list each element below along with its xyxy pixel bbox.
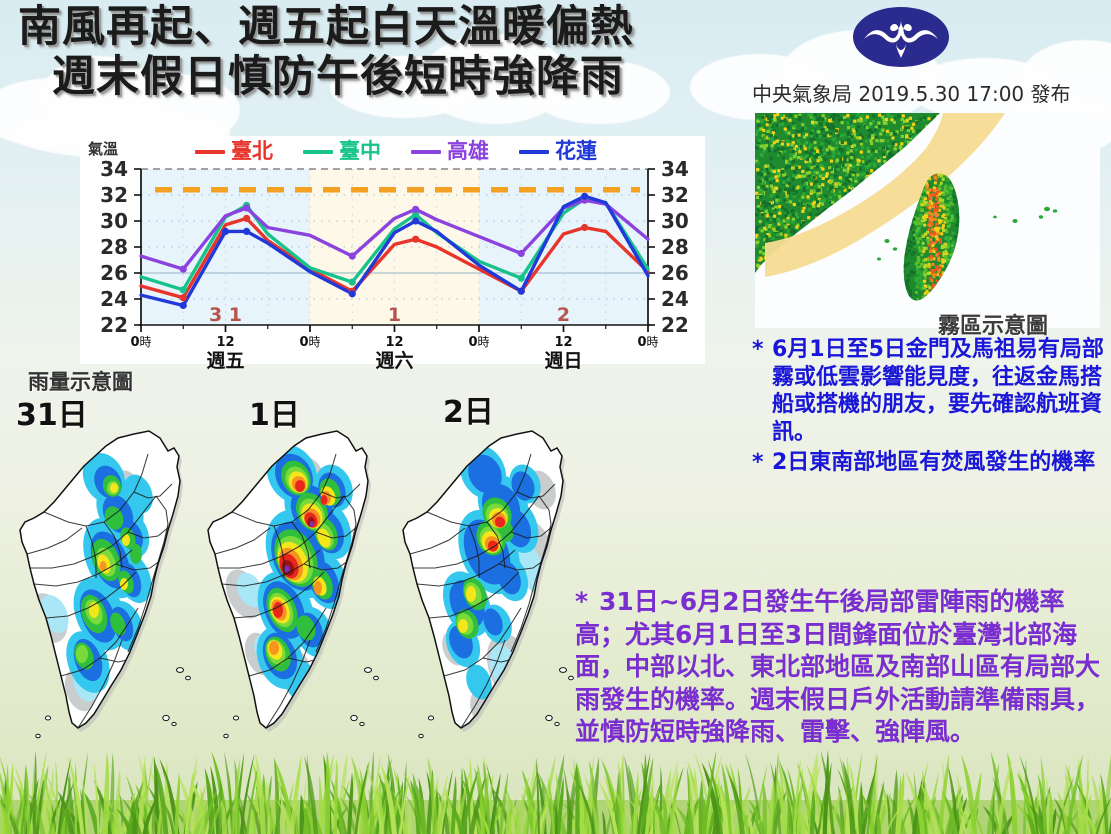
page-title: 南風再起、週五起白天溫暖偏熱 週末假日慎防午後短時強降雨 bbox=[18, 2, 718, 103]
rain-map-may31 bbox=[8, 418, 213, 763]
blue-note-1: * 2日東南部地區有焚風發生的機率 bbox=[752, 449, 1104, 477]
legend-swatch-kaohsiung bbox=[411, 150, 441, 154]
legend-item-taichung: 臺中 bbox=[303, 135, 381, 165]
temperature-chart-panel bbox=[80, 136, 705, 364]
bullet-star-purple: * bbox=[575, 586, 599, 619]
legend-item-kaohsiung: 高雄 bbox=[411, 135, 489, 165]
rain-map-jun2 bbox=[391, 418, 596, 763]
legend-swatch-hualien bbox=[519, 150, 549, 154]
rain-advisory-note: * 31日~6月2日發生午後局部雷陣雨的機率高；尤其6月1日至3日間鋒面位於臺灣… bbox=[575, 586, 1110, 749]
legend-swatch-taipei bbox=[195, 150, 225, 154]
legend-item-taipei: 臺北 bbox=[195, 135, 273, 165]
grass-decoration bbox=[0, 742, 1111, 834]
legend-label-taichung: 臺中 bbox=[339, 139, 381, 163]
blue-note-text-0: 6月1日至5日金門及馬祖易有局部霧或低雲影響能見度，往返金馬搭船或搭機的朋友，要… bbox=[772, 336, 1104, 447]
legend-label-taipei: 臺北 bbox=[231, 139, 273, 163]
rain-advisory-text: 31日~6月2日發生午後局部雷陣雨的機率高；尤其6月1日至3日間鋒面位於臺灣北部… bbox=[575, 587, 1100, 746]
blue-note-text-1: 2日東南部地區有焚風發生的機率 bbox=[772, 449, 1104, 477]
issue-timestamp: 中央氣象局 2019.5.30 17:00 發布 bbox=[752, 78, 1071, 107]
legend-swatch-taichung bbox=[303, 150, 333, 154]
chart-legend: 臺北 臺中 高雄 花蓮 bbox=[85, 135, 705, 163]
rain-map-jun1 bbox=[196, 418, 401, 763]
title-line-1: 南風再起、週五起白天溫暖偏熱 bbox=[18, 2, 718, 52]
blue-note-0: * 6月1日至5日金門及馬祖易有局部霧或低雲影響能見度，往返金馬搭船或搭機的朋友… bbox=[752, 336, 1104, 447]
legend-label-hualien: 花蓮 bbox=[555, 139, 597, 163]
legend-item-hualien: 花蓮 bbox=[519, 135, 597, 165]
fog-advisory-notes: * 6月1日至5日金門及馬祖易有局部霧或低雲影響能見度，往返金馬搭船或搭機的朋友… bbox=[752, 336, 1104, 479]
cwb-logo bbox=[852, 6, 950, 68]
title-line-2: 週末假日慎防午後短時強降雨 bbox=[52, 52, 718, 102]
fog-area-map bbox=[755, 113, 1100, 328]
bullet-star-1: * bbox=[752, 449, 772, 477]
infographic-canvas: 南風再起、週五起白天溫暖偏熱 週末假日慎防午後短時強降雨 中央氣象局 2019.… bbox=[0, 0, 1111, 834]
legend-label-kaohsiung: 高雄 bbox=[447, 139, 489, 163]
bullet-star-0: * bbox=[752, 336, 772, 447]
